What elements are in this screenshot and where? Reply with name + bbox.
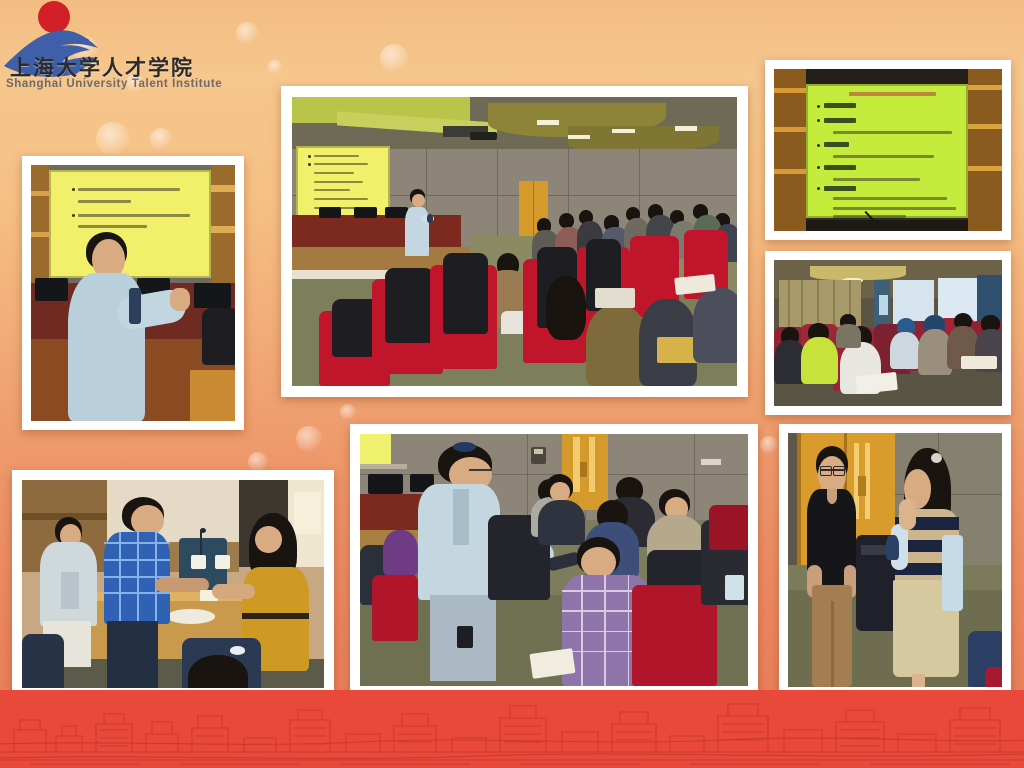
bokeh-decoration	[96, 122, 130, 156]
microphone	[129, 288, 141, 324]
scene-nonverbal-slide	[774, 69, 1002, 231]
scene-lecture-hall-wide	[292, 97, 737, 386]
photo-student-roleplay[interactable]	[779, 424, 1011, 696]
scene-audience-windows	[774, 260, 1002, 406]
institute-logo: 上海大学人才学院 Shanghai University Talent Inst…	[2, 0, 202, 104]
logo-english-name: Shanghai University Talent Institute	[6, 78, 222, 90]
scene-business-card-exchange	[22, 480, 324, 688]
collage-canvas: 上海大学人才学院 Shanghai University Talent Inst…	[0, 0, 1024, 768]
logo-sun-icon	[38, 1, 70, 33]
bokeh-decoration	[340, 404, 356, 420]
bokeh-decoration	[760, 436, 778, 454]
bokeh-decoration	[296, 426, 322, 452]
decorative-bottom-band	[0, 690, 1024, 768]
photo-lecturer-closeup[interactable]	[22, 156, 244, 430]
photo-lecture-hall-wide[interactable]	[281, 86, 748, 397]
photo-instructor-with-microphone[interactable]	[350, 424, 758, 696]
handheld-microphone	[886, 535, 899, 560]
scene-instructor-microphone	[360, 434, 748, 686]
bokeh-decoration	[380, 44, 408, 72]
photo-business-card-exchange[interactable]	[12, 470, 334, 698]
bokeh-decoration	[268, 60, 282, 74]
bokeh-decoration	[150, 128, 172, 150]
bokeh-decoration	[236, 22, 258, 44]
scene-student-roleplay	[788, 433, 1002, 687]
scene-lecturer-closeup	[31, 165, 235, 421]
photo-nonverbal-communication-slide[interactable]	[765, 60, 1011, 240]
campus-lineart-decoration	[0, 690, 1024, 768]
photo-audience-by-windows[interactable]	[765, 251, 1011, 415]
bokeh-decoration	[248, 452, 268, 472]
